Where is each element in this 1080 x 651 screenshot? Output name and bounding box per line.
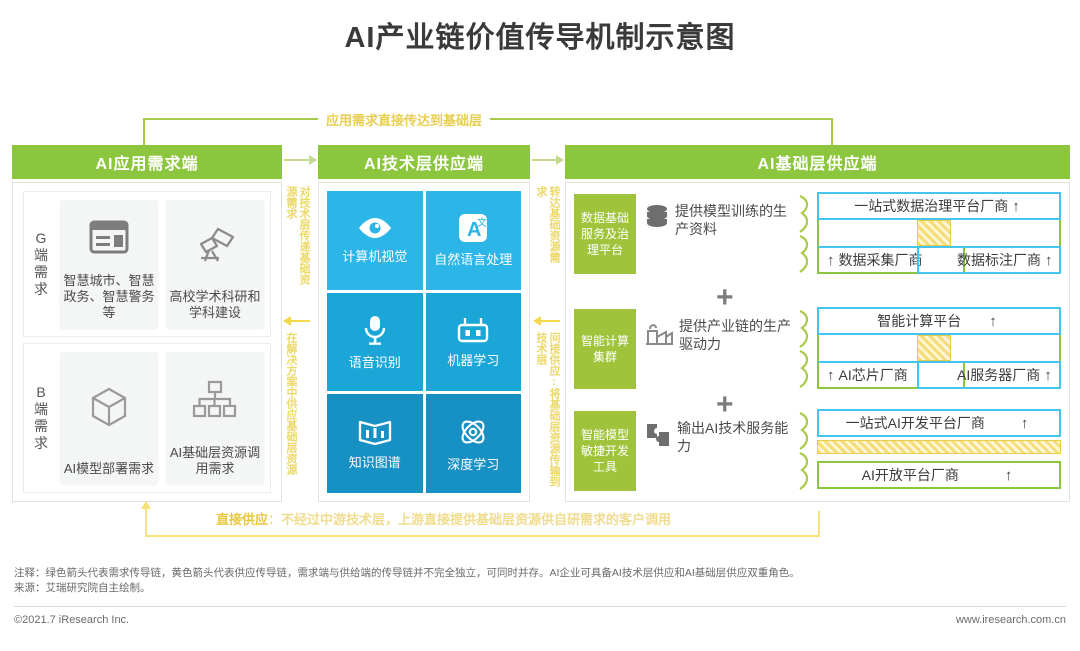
connector-app-to-tech bbox=[284, 159, 316, 161]
top-route-label: 应用需求直接传达到基础层 bbox=[318, 110, 490, 129]
brace-icon bbox=[796, 309, 816, 389]
vendor-row-top[interactable]: 一站式数据治理平台厂商 ↑ bbox=[817, 192, 1061, 220]
demand-card-list: AI模型部署需求 bbox=[60, 352, 264, 484]
base-desc: 输出AI技术服务能力 bbox=[644, 419, 794, 455]
vendor-row-bottom-right[interactable]: AI服务器厂商 ↑ bbox=[917, 361, 1061, 389]
footer-note-line: 注释：绿色箭头代表需求传导链，黄色箭头代表供应传导链，需求端与供给端的传导链并不… bbox=[14, 566, 1064, 581]
side-label-right-up: 间接供应:将基础层资源传输到技术层 bbox=[534, 332, 560, 497]
panel-tech-supply: 计算机视觉 A文 自然语言处理 语音识别 机器学习 bbox=[318, 182, 530, 502]
tech-tile-knowledge-graph[interactable]: 知识图谱 bbox=[327, 394, 423, 493]
route-left-leg bbox=[145, 507, 147, 537]
base-group-data: 数据基础服务及治理平台 提供模型训练的生产资料 一站式数据治理平台厂商 ↑ ↑ bbox=[574, 190, 1061, 278]
arrow-left-icon bbox=[283, 316, 291, 326]
base-category-label: 智能计算集群 bbox=[574, 309, 636, 389]
tech-tile-label: 深度学习 bbox=[447, 457, 499, 472]
base-desc-text: 提供模型训练的生产资料 bbox=[675, 202, 794, 238]
panel-app-demand: G 端 需 求 智慧城市、智慧政务、智慧警务等 bbox=[12, 182, 282, 502]
vendor-bottom-right-text: 数据标注厂商 bbox=[957, 250, 1041, 270]
puzzle-icon bbox=[644, 421, 672, 454]
side-label-left-down: 对技术层传递基础资源需求 bbox=[284, 186, 310, 291]
arrow-up-icon: ↑ bbox=[959, 467, 1017, 484]
route-arrow-up-icon bbox=[141, 501, 151, 509]
arrow-up-icon: ↑ bbox=[823, 252, 839, 269]
vendor-bottom-left-text: AI芯片厂商 bbox=[839, 365, 908, 385]
base-category-label: 数据基础服务及治理平台 bbox=[574, 194, 636, 274]
base-group-devtools: 智能模型敏捷开发工具 输出AI技术服务能力 一站式AI开发平台厂商 ↑ AI开放… bbox=[574, 407, 1061, 495]
bottom-route-rest: ：不经过中游技术层，上游直接提供基础层资源供自研需求的客户调用 bbox=[268, 512, 671, 527]
base-group-compute: 智能计算集群 提供产业链的生产驱动力 智能计算平台 ↑ ↑ AI芯片 bbox=[574, 305, 1061, 393]
tech-tile-label: 知识图谱 bbox=[349, 455, 401, 470]
atom-icon bbox=[457, 416, 489, 453]
tech-tile-speech[interactable]: 语音识别 bbox=[327, 293, 423, 392]
arrow-right-icon bbox=[556, 155, 564, 165]
vendor-row-top[interactable]: 智能计算平台 ↑ bbox=[817, 307, 1061, 335]
telescope-icon bbox=[192, 200, 238, 289]
side-label-left-up: 在解决方案中供应基础层资源 bbox=[284, 332, 297, 492]
translate-icon: A文 bbox=[458, 213, 488, 248]
header-base-supply: AI基础层供应端 bbox=[565, 145, 1070, 179]
base-desc: 提供模型训练的生产资料 bbox=[644, 202, 794, 238]
diagram-canvas: AI产业链价值传导机制示意图 应用需求直接传达到基础层 AI应用需求端 AI技术… bbox=[0, 0, 1080, 651]
arrow-up-icon: ↑ bbox=[1041, 252, 1057, 269]
base-desc: 提供产业链的生产驱动力 bbox=[644, 317, 794, 353]
base-category-label: 智能模型敏捷开发工具 bbox=[574, 411, 636, 491]
footer-website: www.iresearch.com.cn bbox=[956, 614, 1066, 626]
factory-icon bbox=[644, 319, 674, 352]
arrow-right-icon bbox=[309, 155, 317, 165]
bottom-route-label: 直接供应：不经过中游技术层，上游直接提供基础层资源供自研需求的客户调用 bbox=[210, 509, 677, 528]
vendor-row-top[interactable]: 一站式AI开发平台厂商 ↑ bbox=[817, 409, 1061, 437]
demand-group-label: B 端 需 求 bbox=[28, 384, 54, 452]
arrow-up-icon: ↑ bbox=[1008, 198, 1024, 215]
hierarchy-icon bbox=[191, 352, 239, 445]
demand-card-label: 智慧城市、智慧政务、智慧警务等 bbox=[60, 273, 158, 321]
database-icon bbox=[644, 203, 670, 238]
arrow-up-icon: ↑ bbox=[961, 313, 1001, 330]
tech-tile-label: 语音识别 bbox=[349, 355, 401, 370]
base-desc-text: 输出AI技术服务能力 bbox=[677, 419, 794, 455]
microphone-icon bbox=[362, 314, 388, 351]
side-label-right-down: 转达基础资源需求 bbox=[534, 186, 560, 266]
tech-tile-machine-learning[interactable]: 机器学习 bbox=[426, 293, 522, 392]
demand-card[interactable]: 高校学术科研和学科建设 bbox=[166, 200, 264, 328]
demand-card-list: 智慧城市、智慧政务、智慧警务等 bbox=[60, 200, 264, 328]
route-line bbox=[145, 535, 820, 537]
footer-copyright: ©2021.7 iResearch Inc. bbox=[14, 614, 129, 626]
demand-card-label: 高校学术科研和学科建设 bbox=[166, 289, 264, 321]
vendor-row-bottom[interactable]: AI开放平台厂商 ↑ bbox=[817, 461, 1061, 489]
svg-text:文: 文 bbox=[477, 216, 487, 229]
demand-card-label: AI基础层资源调用需求 bbox=[166, 445, 264, 477]
hatch-connector bbox=[917, 335, 951, 361]
demand-card[interactable]: 智慧城市、智慧政务、智慧警务等 bbox=[60, 200, 158, 328]
tech-tile-label: 计算机视觉 bbox=[342, 249, 407, 264]
connector-tech-to-base bbox=[532, 159, 563, 161]
tech-tile-label: 机器学习 bbox=[447, 353, 499, 368]
demand-group-g: G 端 需 求 智慧城市、智慧政务、智慧警务等 bbox=[23, 191, 271, 337]
bottom-route-bold: 直接供应 bbox=[216, 512, 268, 527]
tech-tile-computer-vision[interactable]: 计算机视觉 bbox=[327, 191, 423, 290]
vendor-bottom-text: AI开放平台厂商 bbox=[862, 465, 959, 485]
demand-group-b: B 端 需 求 AI模型部署需求 bbox=[23, 343, 271, 493]
header-tech-supply: AI技术层供应端 bbox=[318, 145, 530, 179]
side-arrow-right-icon bbox=[534, 320, 560, 322]
arrow-left-icon bbox=[533, 316, 541, 326]
dashboard-icon bbox=[88, 200, 130, 273]
base-vendor-block: 一站式AI开发平台厂商 ↑ AI开放平台厂商 ↑ bbox=[817, 409, 1061, 493]
brace-icon bbox=[796, 411, 816, 491]
base-vendor-block: 智能计算平台 ↑ ↑ AI芯片厂商 AI服务器厂商 ↑ bbox=[817, 307, 1061, 391]
base-vendor-block: 一站式数据治理平台厂商 ↑ ↑ 数据采集厂商 数据标注厂商 ↑ bbox=[817, 192, 1061, 276]
robot-icon bbox=[456, 316, 490, 349]
cube-icon bbox=[87, 352, 131, 461]
demand-card[interactable]: AI基础层资源调用需求 bbox=[166, 352, 264, 484]
demand-group-label: G 端 需 求 bbox=[28, 230, 54, 298]
header-app-demand: AI应用需求端 bbox=[12, 145, 282, 179]
arrow-up-icon: ↑ bbox=[985, 415, 1033, 432]
tech-tile-deep-learning[interactable]: 深度学习 bbox=[426, 394, 522, 493]
tech-tile-label: 自然语言处理 bbox=[434, 252, 512, 267]
tech-tile-nlp[interactable]: A文 自然语言处理 bbox=[426, 191, 522, 290]
footer-divider bbox=[14, 606, 1066, 607]
side-arrow-left-icon bbox=[284, 320, 310, 322]
vendor-top-text: 智能计算平台 bbox=[877, 311, 961, 331]
arrow-up-icon: ↑ bbox=[1040, 367, 1056, 384]
panel-base-supply: 数据基础服务及治理平台 提供模型训练的生产资料 一站式数据治理平台厂商 ↑ ↑ bbox=[565, 182, 1070, 502]
hatch-connector bbox=[917, 220, 951, 246]
map-icon bbox=[358, 418, 392, 451]
route-right-leg bbox=[831, 118, 833, 148]
vendor-row-bottom-right[interactable]: 数据标注厂商 ↑ bbox=[917, 246, 1061, 274]
vendor-bottom-right-text: AI服务器厂商 bbox=[957, 365, 1040, 385]
vendor-bottom-left-text: 数据采集厂商 bbox=[839, 250, 923, 270]
hatch-connector-wide bbox=[817, 440, 1061, 454]
base-desc-text: 提供产业链的生产驱动力 bbox=[679, 317, 794, 353]
vendor-top-text: 一站式数据治理平台厂商 bbox=[854, 196, 1008, 216]
footer-notes: 注释：绿色箭头代表需求传导链，黄色箭头代表供应传导链，需求端与供给端的传导链并不… bbox=[14, 566, 1064, 596]
brace-icon bbox=[796, 194, 816, 274]
eye-icon bbox=[356, 216, 394, 245]
tech-tile-grid: 计算机视觉 A文 自然语言处理 语音识别 机器学习 bbox=[327, 191, 521, 493]
demand-card-label: AI模型部署需求 bbox=[61, 461, 157, 477]
arrow-up-icon: ↑ bbox=[823, 367, 839, 384]
footer-source-line: 来源：艾瑞研究院自主绘制。 bbox=[14, 581, 1064, 596]
vendor-top-text: 一站式AI开发平台厂商 bbox=[846, 413, 985, 433]
bottom-supply-route: 直接供应：不经过中游技术层，上游直接提供基础层资源供自研需求的客户调用 bbox=[145, 505, 820, 537]
route-right-leg bbox=[818, 511, 820, 537]
demand-card[interactable]: AI模型部署需求 bbox=[60, 352, 158, 484]
page-title: AI产业链价值传导机制示意图 bbox=[0, 14, 1080, 56]
